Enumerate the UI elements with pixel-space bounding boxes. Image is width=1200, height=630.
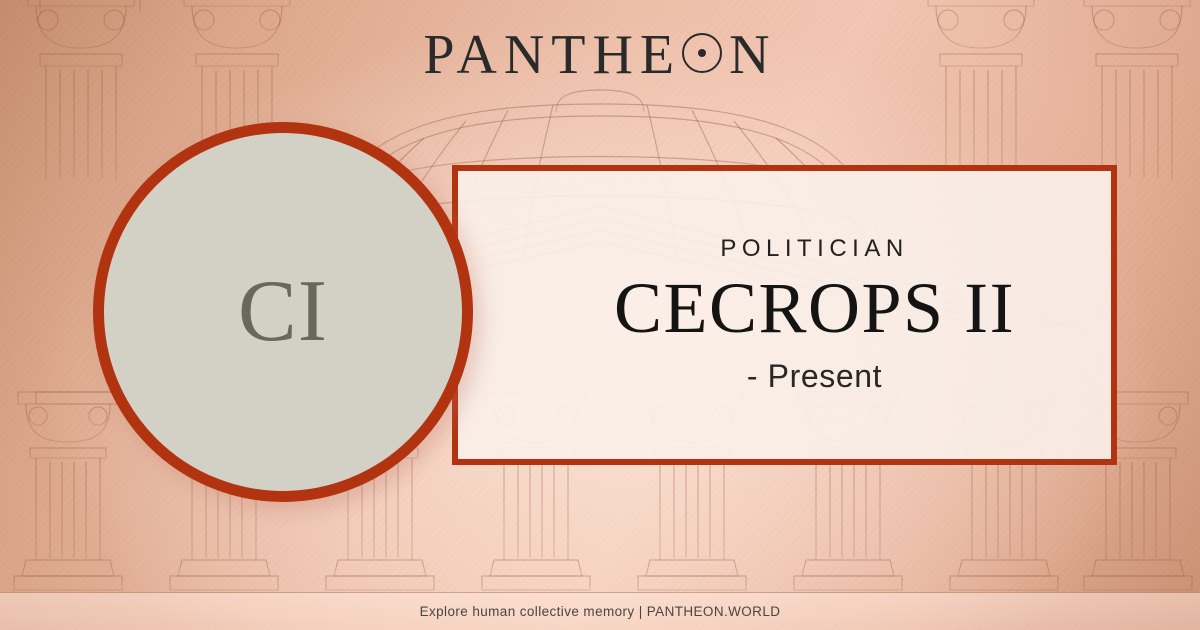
footer-tagline: Explore human collective memory | PANTHE… — [420, 604, 781, 619]
person-info-content: POLITICIAN CECROPS II - Present — [458, 235, 1111, 395]
avatar: CI — [93, 122, 473, 502]
person-info-card: POLITICIAN CECROPS II - Present — [452, 165, 1117, 465]
occupation-label: POLITICIAN — [518, 235, 1111, 263]
avatar-initials: CI — [238, 268, 328, 356]
footer-bar: Explore human collective memory | PANTHE… — [0, 592, 1200, 630]
pantheon-wordmark[interactable]: PANTHEN — [0, 27, 1200, 83]
wordmark-text-before: PANTHE — [423, 24, 681, 86]
lifespan-label: - Present — [518, 358, 1111, 395]
circle-dot-o-icon — [681, 32, 727, 78]
wordmark-text-after: N — [729, 24, 776, 86]
pantheon-social-card: PANTHEN POLITICIAN CECROPS II - Present … — [0, 0, 1200, 630]
person-name: CECROPS II — [518, 271, 1111, 346]
